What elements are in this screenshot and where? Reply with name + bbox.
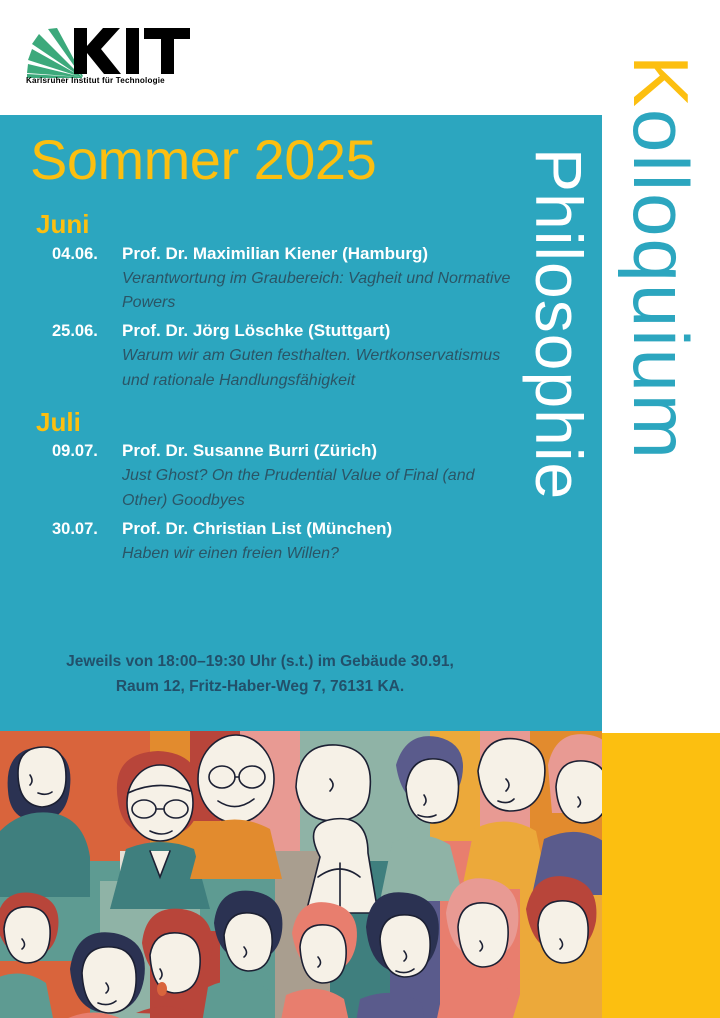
page-title: Sommer 2025 [30,132,376,188]
entry-speaker: Prof. Dr. Jörg Löschke (Stuttgart) [122,320,520,343]
kit-logo-subtitle: Karlsruher Institut für Technologie [26,76,201,85]
entry-body: Prof. Dr. Maximilian Kiener (Hamburg) Ve… [122,243,520,317]
kolloquium-vertical-title: Kolloquium [622,55,700,461]
kolloquium-rest: olloquium [617,109,705,461]
entry-body: Prof. Dr. Christian List (München) Haben… [122,518,520,567]
crowd-illustration-svg [0,731,602,1018]
venue-info: Jeweils von 18:00–19:30 Uhr (s.t.) im Ge… [0,650,520,700]
entry-body: Prof. Dr. Jörg Löschke (Stuttgart) Warum… [122,320,520,394]
philosophie-vertical-title: Philosophie [526,148,592,500]
entry-date: 09.07. [52,440,122,514]
program-entry: 09.07. Prof. Dr. Susanne Burri (Zürich) … [0,440,520,514]
kit-wordmark [74,26,190,76]
month-group-juni: Juni 04.06. Prof. Dr. Maximilian Kiener … [0,210,520,394]
entry-date: 30.07. [52,518,122,567]
entry-title: Verantwortung im Graubereich: Vagheit un… [122,267,520,317]
month-label: Juni [36,210,520,239]
entry-title: Warum wir am Guten festhalten. Wertkonse… [122,344,520,394]
entry-title: Haben wir einen freien Willen? [122,542,520,567]
entry-speaker: Prof. Dr. Maximilian Kiener (Hamburg) [122,243,520,266]
kolloquium-first-letter: K [617,55,705,109]
entry-title: Just Ghost? On the Prudential Value of F… [122,464,520,514]
yellow-accent-block [602,733,720,1018]
program-entry: 25.06. Prof. Dr. Jörg Löschke (Stuttgart… [0,320,520,394]
kit-logo: Karlsruher Institut für Technologie [26,26,186,94]
program-list: Juni 04.06. Prof. Dr. Maximilian Kiener … [0,210,520,567]
program-entry: 30.07. Prof. Dr. Christian List (München… [0,518,520,567]
venue-line-1: Jeweils von 18:00–19:30 Uhr (s.t.) im Ge… [0,650,520,675]
entry-date: 25.06. [52,320,122,394]
entry-body: Prof. Dr. Susanne Burri (Zürich) Just Gh… [122,440,520,514]
crowd-of-people-illustration [0,731,602,1018]
program-entry: 04.06. Prof. Dr. Maximilian Kiener (Hamb… [0,243,520,317]
entry-date: 04.06. [52,243,122,317]
month-label: Juli [36,408,520,437]
month-group-juli: Juli 09.07. Prof. Dr. Susanne Burri (Zür… [0,408,520,567]
venue-line-2: Raum 12, Fritz-Haber-Weg 7, 76131 KA. [0,675,520,700]
entry-speaker: Prof. Dr. Susanne Burri (Zürich) [122,440,520,463]
poster-root: Karlsruher Institut für Technologie Koll… [0,0,720,1018]
entry-speaker: Prof. Dr. Christian List (München) [122,518,520,541]
